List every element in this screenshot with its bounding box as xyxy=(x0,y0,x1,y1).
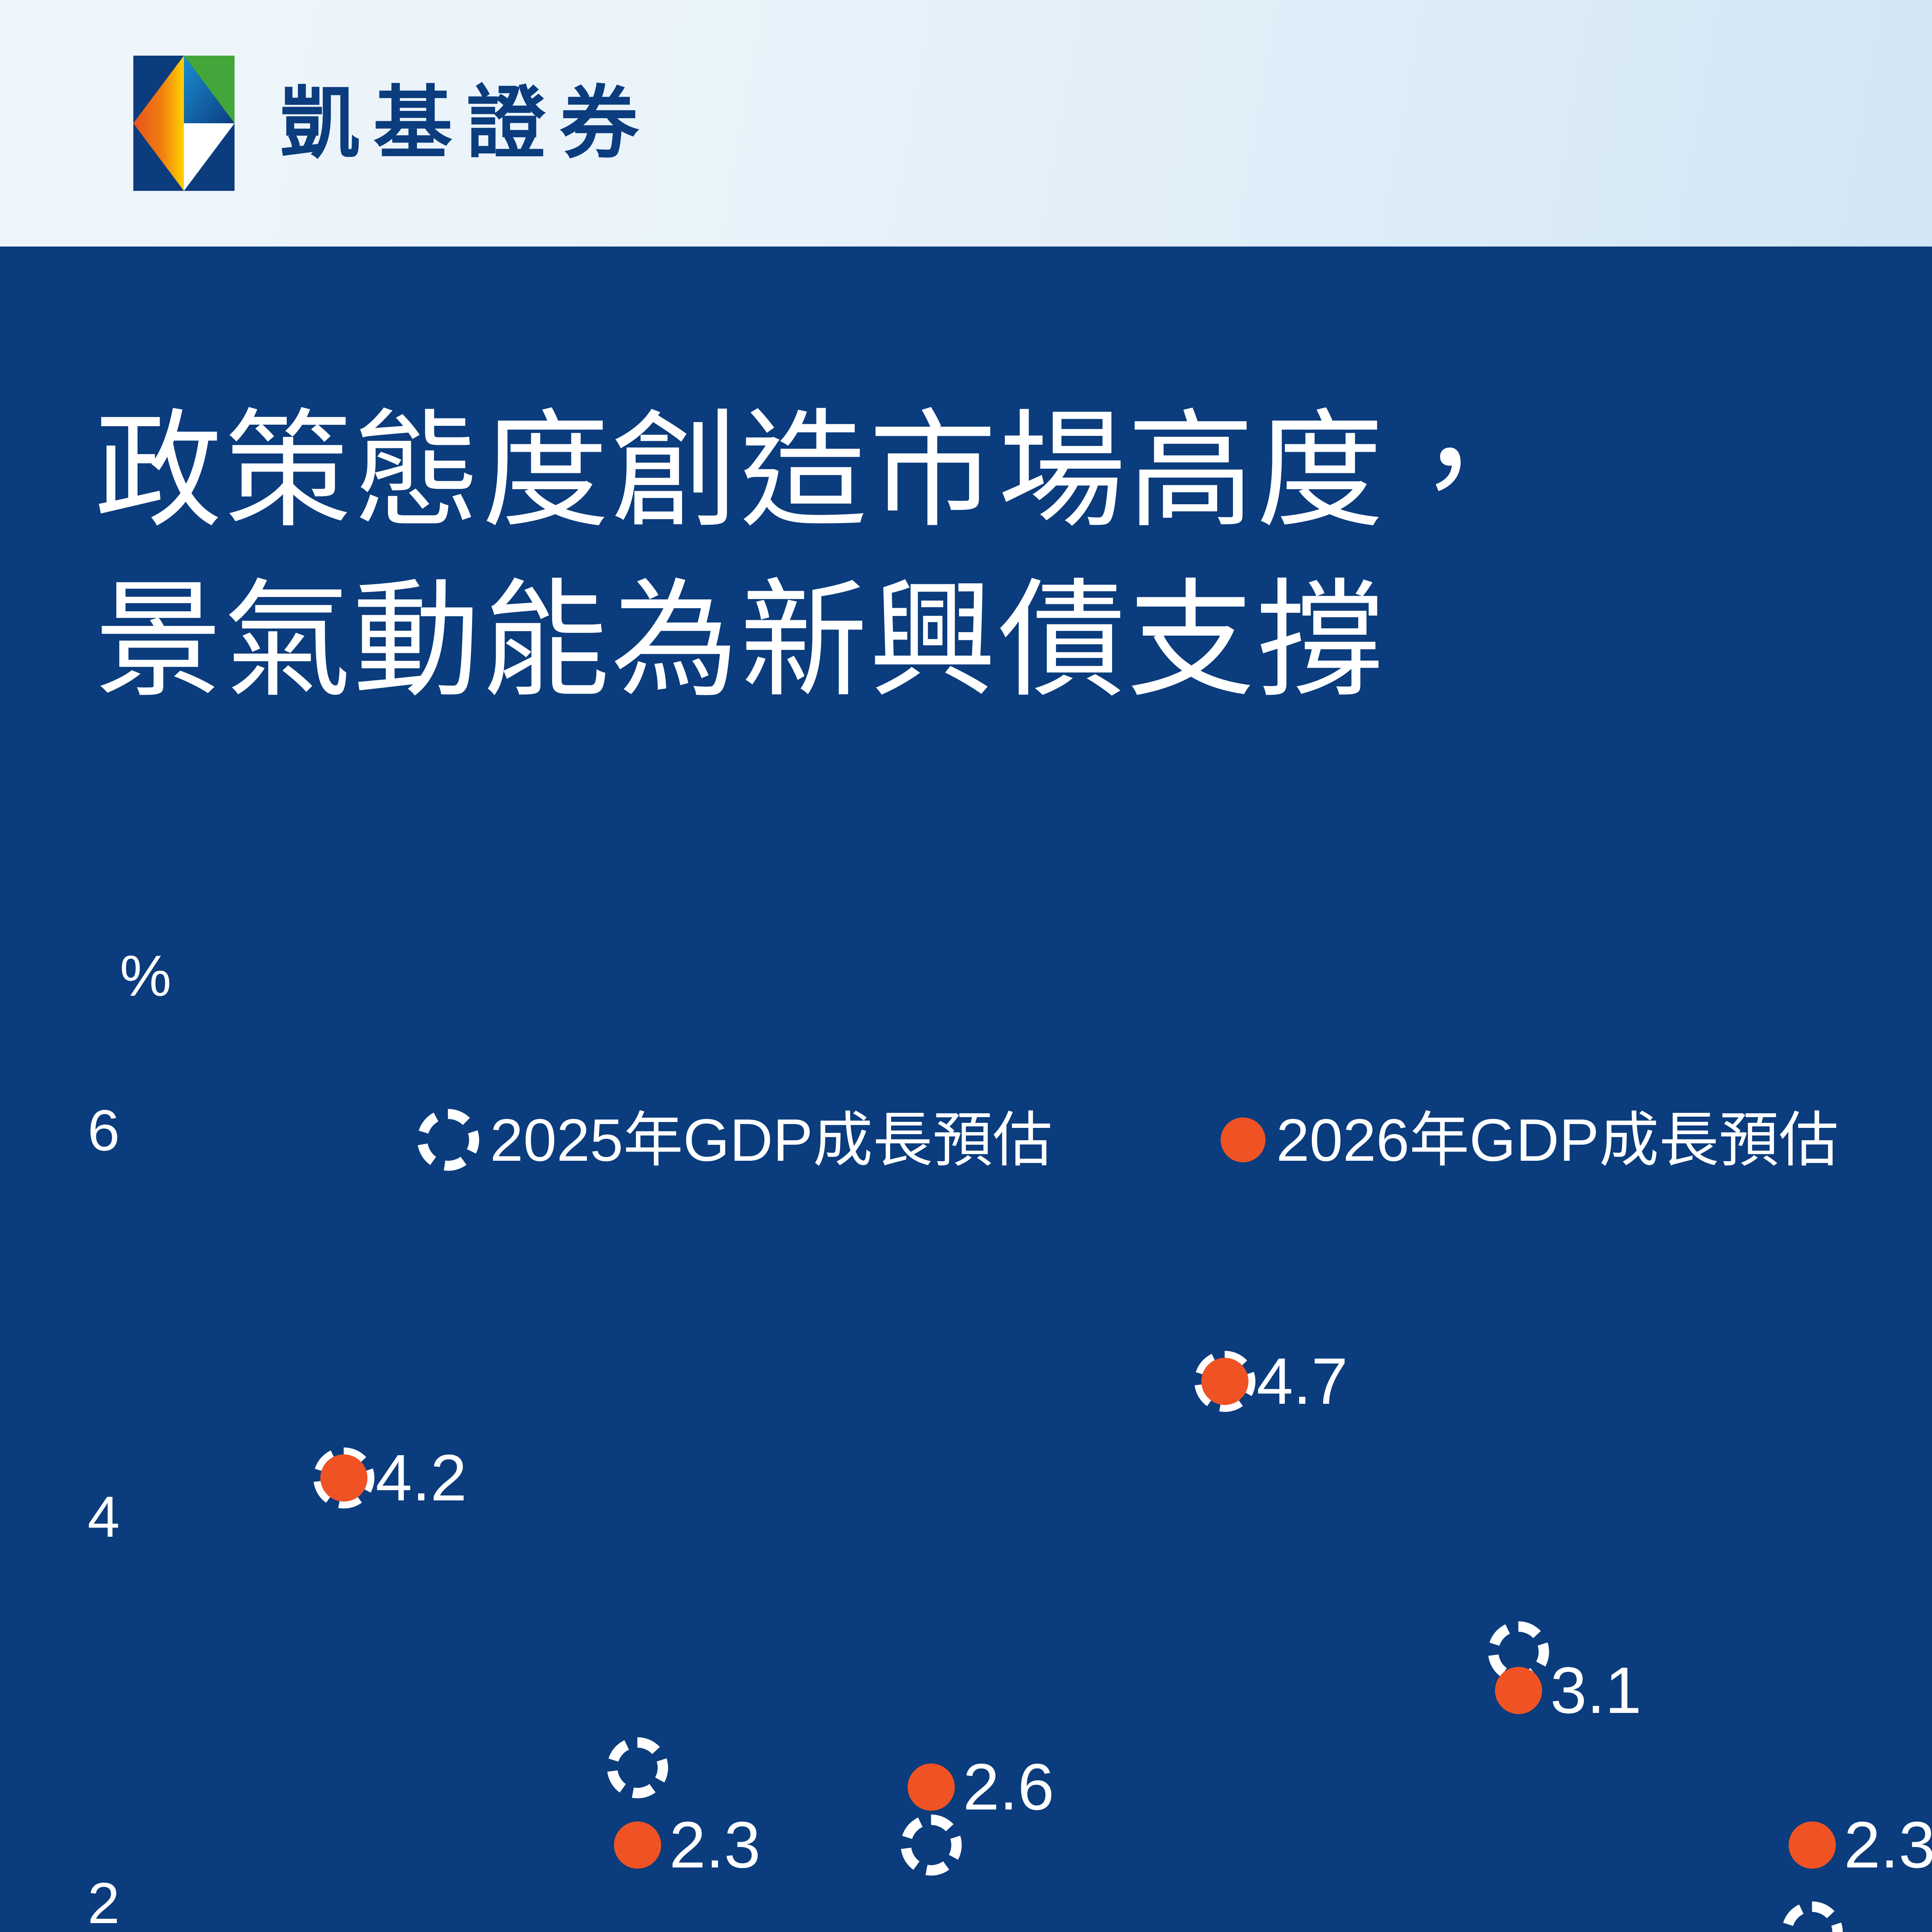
plot-area: 4.22.32.64.73.12.31.2 xyxy=(222,920,1932,1932)
y-tick-2: 2 xyxy=(43,1874,120,1932)
brand-logo: 凱基證券 xyxy=(133,56,653,191)
data-point-label-4: 3.1 xyxy=(1550,1658,1641,1723)
data-point-label-0: 4.2 xyxy=(376,1445,467,1511)
y-axis-unit-label: % xyxy=(120,947,171,1005)
data-point-label-1: 2.3 xyxy=(669,1812,760,1878)
data-point-2025-5[interactable] xyxy=(1782,1901,1843,1932)
data-point-2025-2[interactable] xyxy=(901,1815,962,1876)
y-tick-4: 4 xyxy=(43,1488,120,1546)
data-point-2026-2[interactable] xyxy=(908,1764,955,1811)
data-point-label-2: 2.6 xyxy=(963,1754,1054,1820)
data-point-2026-0[interactable] xyxy=(320,1454,367,1502)
data-point-2026-1[interactable] xyxy=(614,1821,661,1869)
data-point-2026-5[interactable] xyxy=(1789,1821,1836,1869)
page-header: 凱基證券 xyxy=(0,0,1932,247)
kgi-diamond-logo-icon xyxy=(133,56,235,191)
y-tick-6: 6 xyxy=(43,1101,120,1159)
data-point-label-3: 4.7 xyxy=(1257,1349,1348,1414)
data-point-label-5: 2.3 xyxy=(1844,1812,1932,1878)
brand-name: 凱基證券 xyxy=(280,84,653,163)
data-point-2026-3[interactable] xyxy=(1201,1358,1248,1405)
data-point-2025-1[interactable] xyxy=(607,1737,668,1798)
gdp-growth-scatter-chart: % 6 4 2 0 2025年GDP成長預估 2026年GDP成長預估 4.22… xyxy=(0,920,1932,1932)
data-point-2026-4[interactable] xyxy=(1495,1667,1542,1714)
page-title: 政策態度創造市場高度， 景氣動能為新興債支撐 xyxy=(95,386,1932,726)
